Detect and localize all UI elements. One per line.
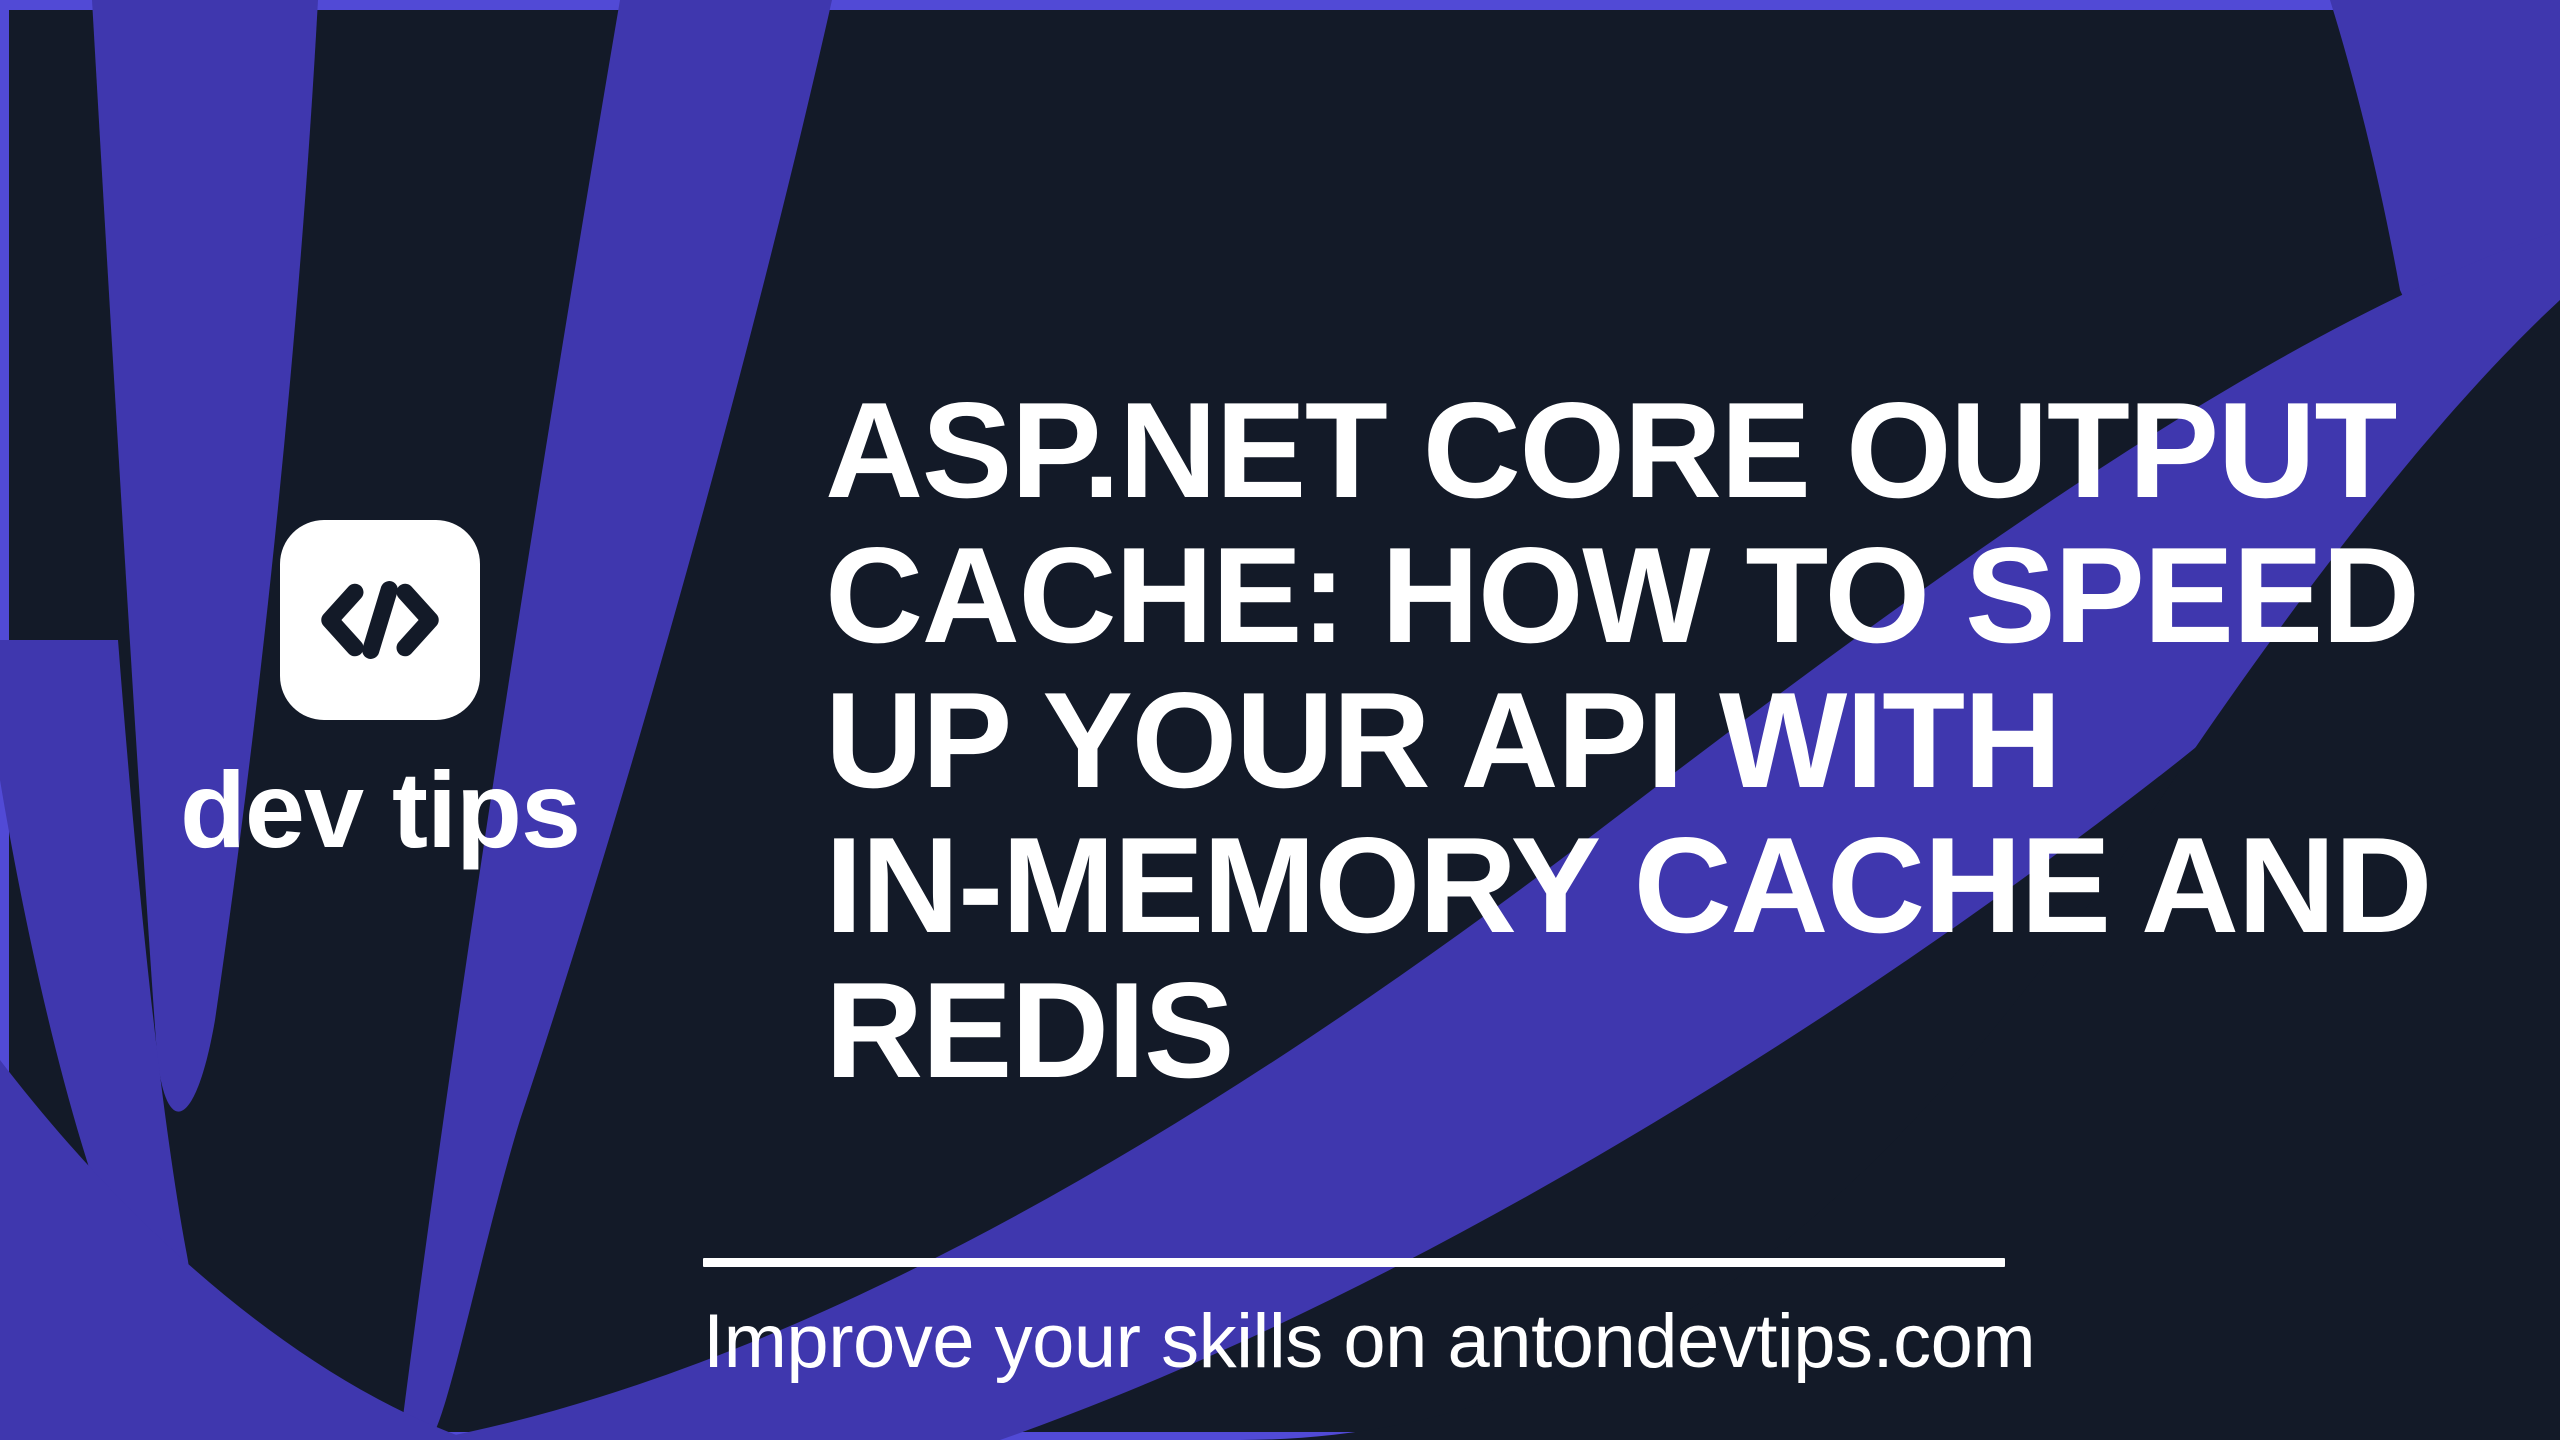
divider — [703, 1258, 2005, 1267]
code-brackets-icon — [314, 554, 446, 686]
headline-line-1: ASP.NET CORE OUTPUT — [825, 378, 2485, 523]
headline-line-4: IN-MEMORY CACHE AND — [825, 813, 2485, 958]
headline-line-3: UP YOUR API WITH — [825, 668, 2485, 813]
top-edge-strip — [0, 0, 2560, 10]
bottom-edge-strip — [0, 1432, 2560, 1440]
social-card-banner: dev tips ASP.NET CORE OUTPUT CACHE: HOW … — [0, 0, 2560, 1440]
headline-line-5: REDIS — [825, 958, 2485, 1103]
headline-line-2: CACHE: HOW TO SPEED — [825, 523, 2485, 668]
right-edge-strip — [2551, 0, 2560, 1440]
footer-block: Improve your skills on antondevtips.com — [703, 1258, 2013, 1383]
brand-block: dev tips — [0, 520, 760, 864]
logo-tile — [280, 520, 480, 720]
brand-wordmark: dev tips — [180, 756, 580, 864]
page-title: ASP.NET CORE OUTPUT CACHE: HOW TO SPEED … — [825, 378, 2485, 1103]
footer-tagline: Improve your skills on antondevtips.com — [703, 1301, 2013, 1383]
corner-wedge-bottom-left — [0, 1060, 470, 1440]
